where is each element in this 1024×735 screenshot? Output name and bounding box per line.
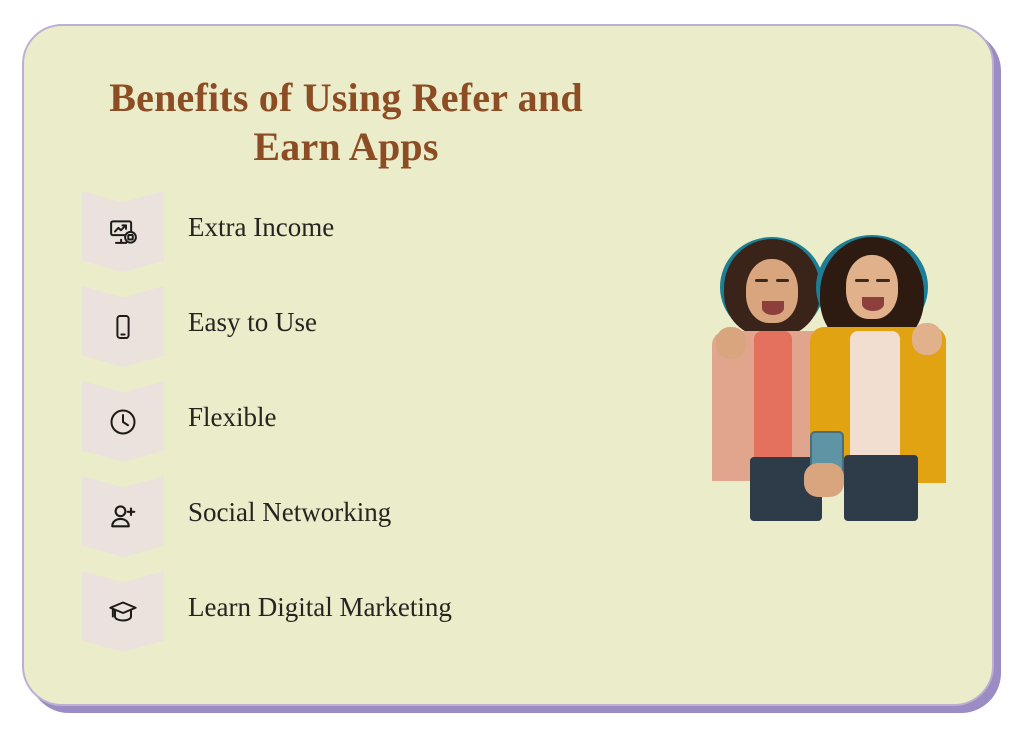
benefit-label-1: Extra Income bbox=[188, 213, 334, 243]
jeans-right bbox=[844, 455, 918, 521]
page-title-line-2: Earn Apps bbox=[86, 123, 606, 172]
arm-right bbox=[908, 343, 946, 455]
list-item: Easy to Use bbox=[82, 286, 602, 381]
fist-right bbox=[912, 323, 942, 355]
benefit-badge-4 bbox=[82, 476, 164, 557]
page-title: Benefits of Using Refer and Earn Apps bbox=[86, 74, 606, 172]
benefit-badge-2 bbox=[82, 286, 164, 367]
holding-hand bbox=[804, 463, 844, 497]
eye-right-a bbox=[855, 279, 869, 282]
graduation-cap-icon bbox=[108, 597, 138, 627]
list-item: Extra Income bbox=[82, 191, 602, 286]
benefit-badge-5 bbox=[82, 571, 164, 652]
shirt-left bbox=[754, 331, 792, 461]
brow-left-a bbox=[755, 279, 768, 282]
add-user-icon bbox=[108, 502, 138, 532]
benefit-label-5: Learn Digital Marketing bbox=[188, 593, 452, 623]
list-item: Learn Digital Marketing bbox=[82, 571, 602, 666]
eye-right-b bbox=[876, 279, 890, 282]
benefits-list: Extra Income Easy to Use bbox=[82, 191, 602, 666]
arm-left bbox=[712, 349, 748, 459]
monitor-growth-chart-icon bbox=[108, 217, 138, 247]
smile-right bbox=[862, 297, 884, 311]
photo-canvas bbox=[692, 231, 954, 521]
brow-left-b bbox=[776, 279, 789, 282]
floral-top-right bbox=[850, 331, 900, 457]
fist-left bbox=[716, 327, 746, 359]
list-item: Social Networking bbox=[82, 476, 602, 571]
page-title-line-1: Benefits of Using Refer and bbox=[86, 74, 606, 123]
smartphone-icon bbox=[109, 313, 137, 341]
benefit-label-3: Flexible bbox=[188, 403, 277, 433]
benefit-label-4: Social Networking bbox=[188, 498, 391, 528]
list-item: Flexible bbox=[82, 381, 602, 476]
slide-card: Benefits of Using Refer and Earn Apps bbox=[22, 24, 994, 706]
benefit-label-2: Easy to Use bbox=[188, 308, 317, 338]
clock-icon bbox=[108, 407, 138, 437]
benefit-badge-3 bbox=[82, 381, 164, 462]
celebrating-women-photo bbox=[692, 231, 954, 521]
benefit-badge-1 bbox=[82, 191, 164, 272]
smile-left bbox=[762, 301, 784, 315]
